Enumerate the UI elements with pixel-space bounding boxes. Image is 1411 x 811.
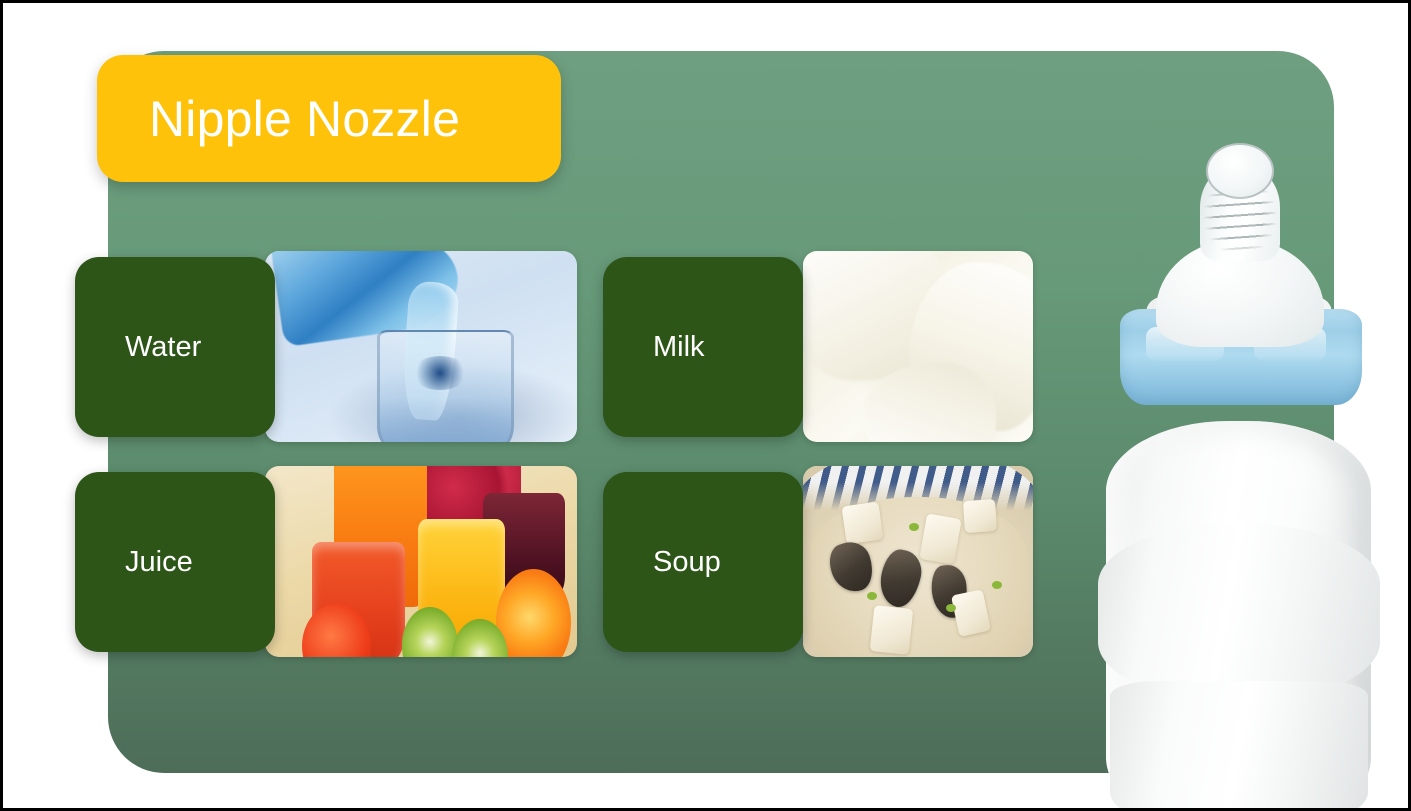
item-card-juice[interactable]: Juice [75,472,577,662]
soup-photo [803,466,1033,657]
bottle-bottom-shape [1110,681,1368,811]
scallion-bit-shape [946,604,956,612]
item-label-soup: Soup [653,548,721,577]
tofu-cube-shape [870,605,914,655]
item-chip-juice[interactable]: Juice [75,472,275,652]
tofu-cube-shape [963,499,997,534]
item-label-juice: Juice [125,548,193,577]
bottle-waist-shape [1098,523,1380,703]
nipple-tip-shape [1206,143,1274,199]
baby-bottle-illustration [1088,121,1388,811]
milk-photo [803,251,1033,442]
item-chip-water[interactable]: Water [75,257,275,437]
title-chip: Nipple Nozzle [97,55,561,182]
water-splash-shape [412,356,468,390]
item-label-water: Water [125,333,201,362]
scallion-bit-shape [992,581,1002,589]
water-photo [265,251,577,442]
tofu-cube-shape [919,513,961,564]
item-label-milk: Milk [653,333,705,362]
slide-canvas: Nipple Nozzle Water Milk [0,0,1411,811]
tofu-cube-shape [842,502,884,545]
item-chip-soup[interactable]: Soup [603,472,803,652]
item-card-water[interactable]: Water [75,257,577,447]
page-title: Nipple Nozzle [149,94,460,144]
item-card-soup[interactable]: Soup [603,472,1033,662]
item-card-milk[interactable]: Milk [603,257,1033,447]
juice-photo [265,466,577,657]
item-chip-milk[interactable]: Milk [603,257,803,437]
